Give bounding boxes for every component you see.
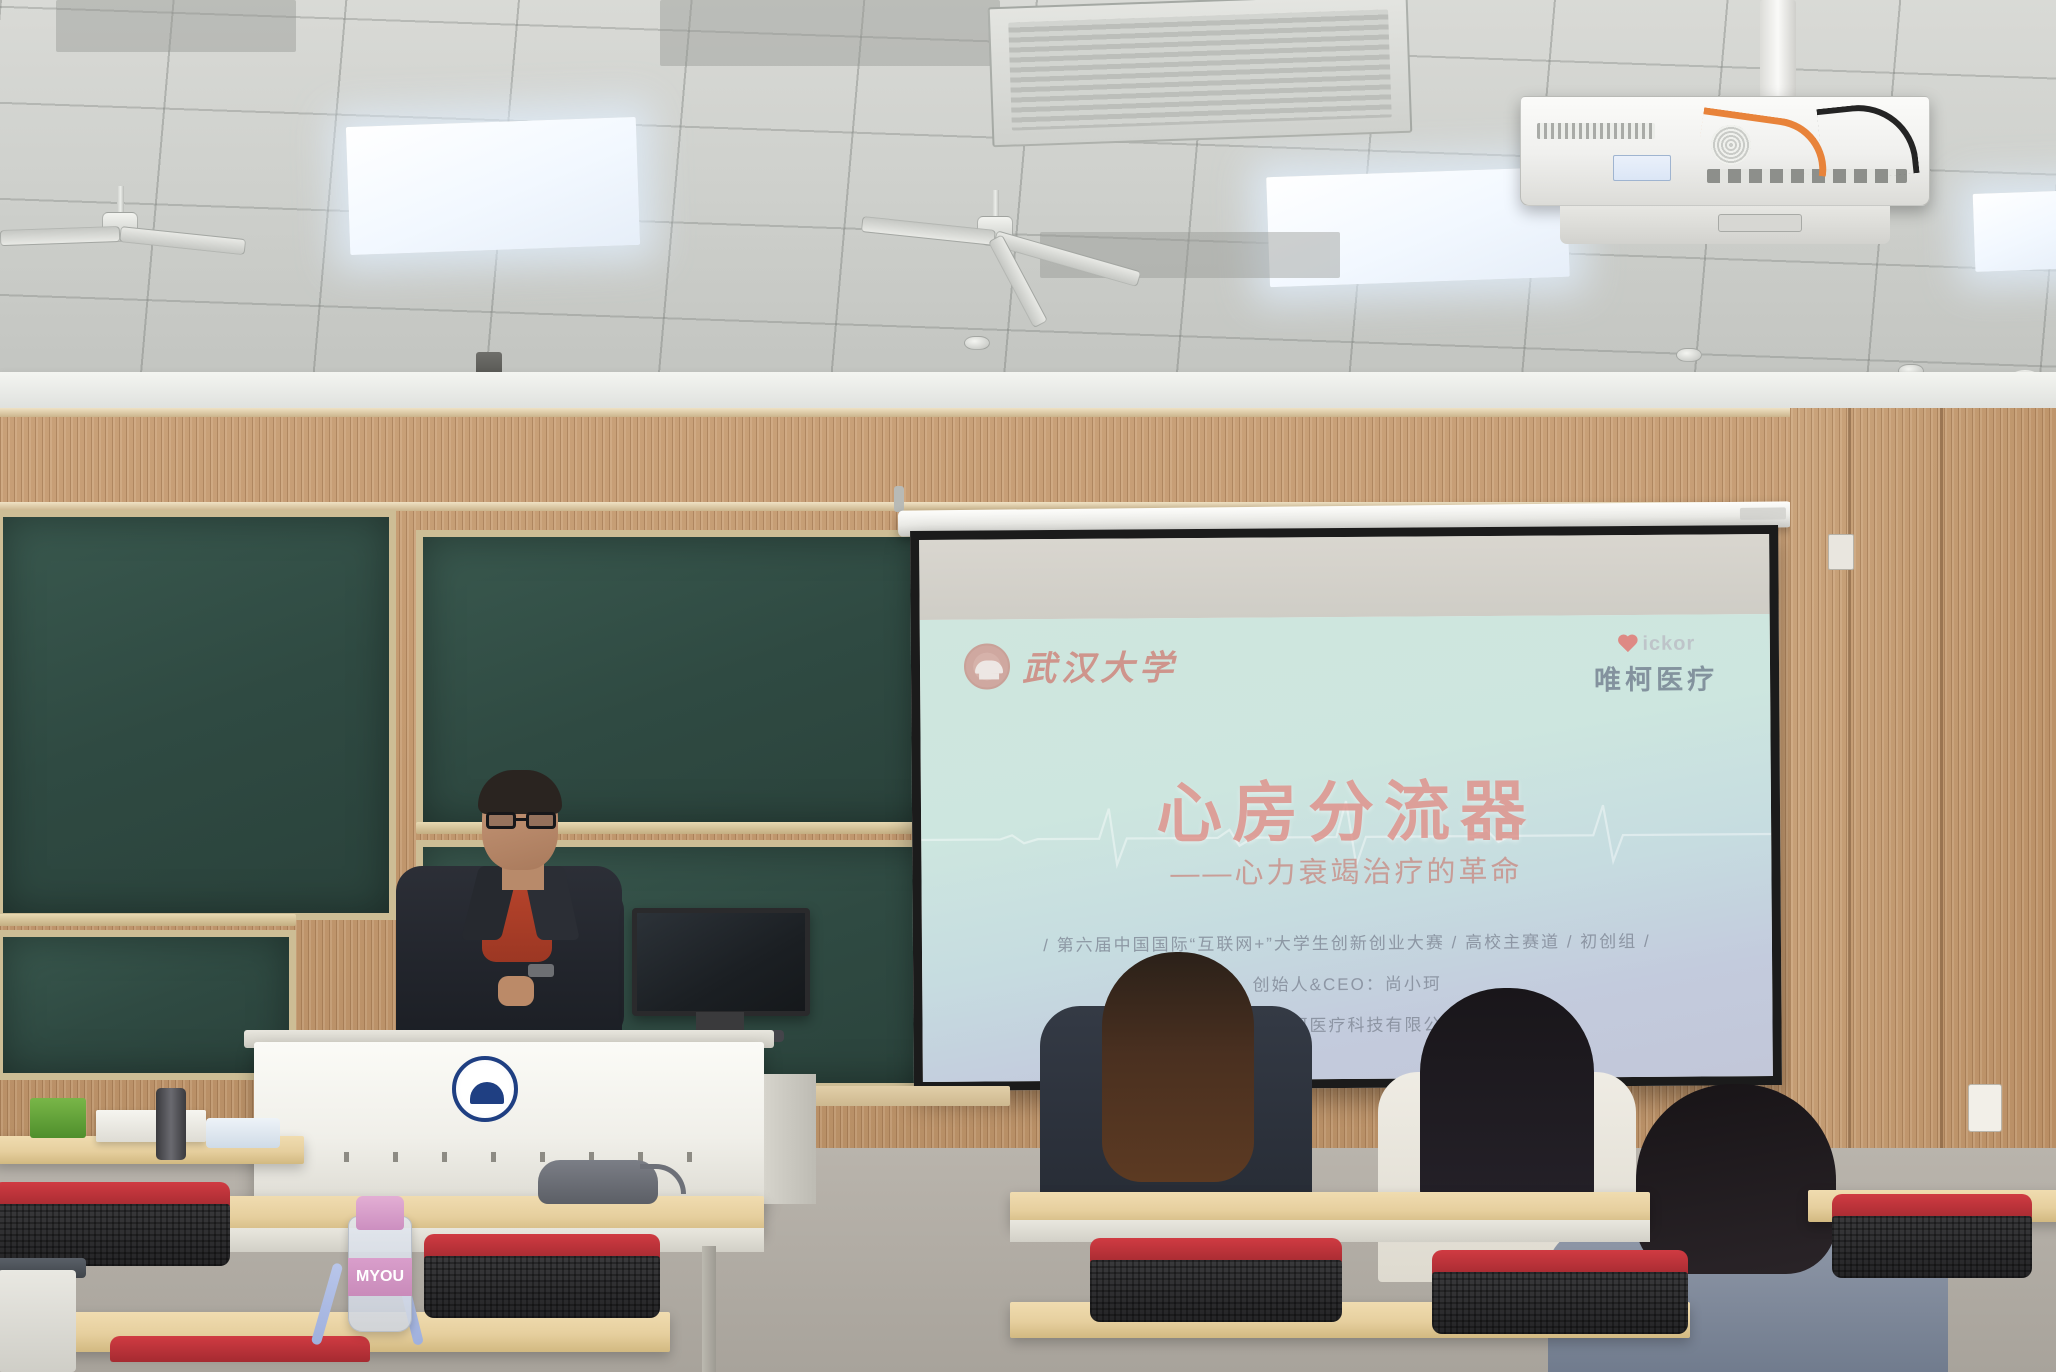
wall-socket[interactable] [1968,1084,2002,1132]
chair-mesh-back [424,1256,660,1318]
podium-side-panel [764,1074,816,1204]
desktop-monitor [632,908,810,1016]
podium-vent-holes [300,1152,720,1162]
screen-blank-top-band [919,534,1770,620]
blackboard-panel-left-upper [0,510,396,920]
monitor-screen [637,913,805,1011]
fan-blade [0,226,120,246]
glasses-bridge [516,818,528,821]
projector-lens-cover [1718,214,1802,232]
company-name-cn: 唯柯医疗 [1594,657,1718,697]
desk-leg [702,1246,716,1372]
right-wall-panel [1790,408,2056,1148]
student-gray-shirt-hair [1636,1084,1836,1274]
glasses-icon [486,812,560,829]
wall-panel-seam-b [1940,408,1943,1148]
slide-meta-competition: / 第六届中国国际“互联网+”大学生创新创业大赛 / 高校主赛道 / 初创组 / [922,926,1772,957]
ceiling-light-panel-left [346,117,640,255]
classroom-photo: 武汉大学 ickor 唯柯医疗 心房分流器 ——心力衰竭治疗的革命 / 第六届中… [0,0,2056,1372]
water-bottle-label: MYOU [348,1258,412,1296]
chalk-rail-left [0,914,296,926]
projector-label [1613,155,1671,181]
light-switch-plate[interactable] [1828,534,1854,570]
slide-subtitle: ——心力衰竭治疗的革命 [921,846,1771,894]
ceiling-tile-dark-a [660,0,1000,66]
glasses-lens-right [526,812,556,829]
fan-blade [861,216,996,246]
ceiling-fan-left [20,186,220,286]
classroom-chair [110,1336,370,1372]
wristwatch-icon [528,964,554,977]
screen-mount-hook [894,486,904,512]
water-bottle-cap [356,1196,404,1230]
green-box-item [30,1098,86,1138]
company-logo: ickor 唯柯医疗 [1594,632,1718,697]
wood-grain-texture-right [1790,408,2056,1148]
trash-bin [0,1270,76,1372]
roller-end-cap [1740,507,1786,519]
paper-stack [96,1110,206,1142]
air-conditioner-vent [988,0,1413,147]
ceiling-tile-dark-b [56,0,296,52]
wall-trim-upper [0,408,2056,417]
classroom-chair [1090,1238,1342,1330]
wuhan-university-seal-icon [964,643,1010,689]
slide-title: 心房分流器 [921,756,1772,858]
presenter-hand [498,976,534,1006]
smoke-detector-a [964,336,990,350]
student-dark-coat-hair [1102,952,1254,1182]
chair-mesh-back [1090,1260,1342,1322]
glasses-lens-left [486,812,516,829]
ceiling-fan-center [880,190,1110,300]
company-latin-name: ickor [1642,633,1695,656]
presentation-slide: 武汉大学 ickor 唯柯医疗 心房分流器 ——心力衰竭治疗的革命 / 第六届中… [920,614,1773,1091]
chair-mesh-back [1832,1216,2032,1278]
slide-meta-presenter: 创始人&CEO：尚小珂 [922,967,1772,998]
company-logo-mark: ickor [1594,632,1718,656]
wuhan-university-emblem-icon [452,1056,518,1122]
thermos-flask [156,1088,186,1160]
ceiling [0,0,2056,392]
classroom-chair [424,1234,660,1326]
projector-vent-grille [1537,123,1655,139]
heart-icon [1616,634,1638,654]
tissue-box [206,1118,280,1148]
wall-panel-seam-a [1848,408,1851,1148]
university-name: 武汉大学 [1022,640,1178,690]
classroom-chair [1832,1194,2032,1282]
blackboard-panel-left-lower [0,930,296,1080]
chair-mesh-back [1432,1272,1688,1334]
chair-mesh-back [0,1204,230,1266]
smoke-detector-b [1676,348,1702,362]
classroom-chair [1432,1250,1688,1342]
projection-screen: 武汉大学 ickor 唯柯医疗 心房分流器 ——心力衰竭治疗的革命 / 第六届中… [910,525,1782,1091]
chair-backrest-top [110,1336,370,1362]
ceiling-light-panel-far-right [1973,190,2056,272]
projector-ceiling-mount [1760,0,1796,98]
slide-university-header: 武汉大学 [964,640,1178,690]
